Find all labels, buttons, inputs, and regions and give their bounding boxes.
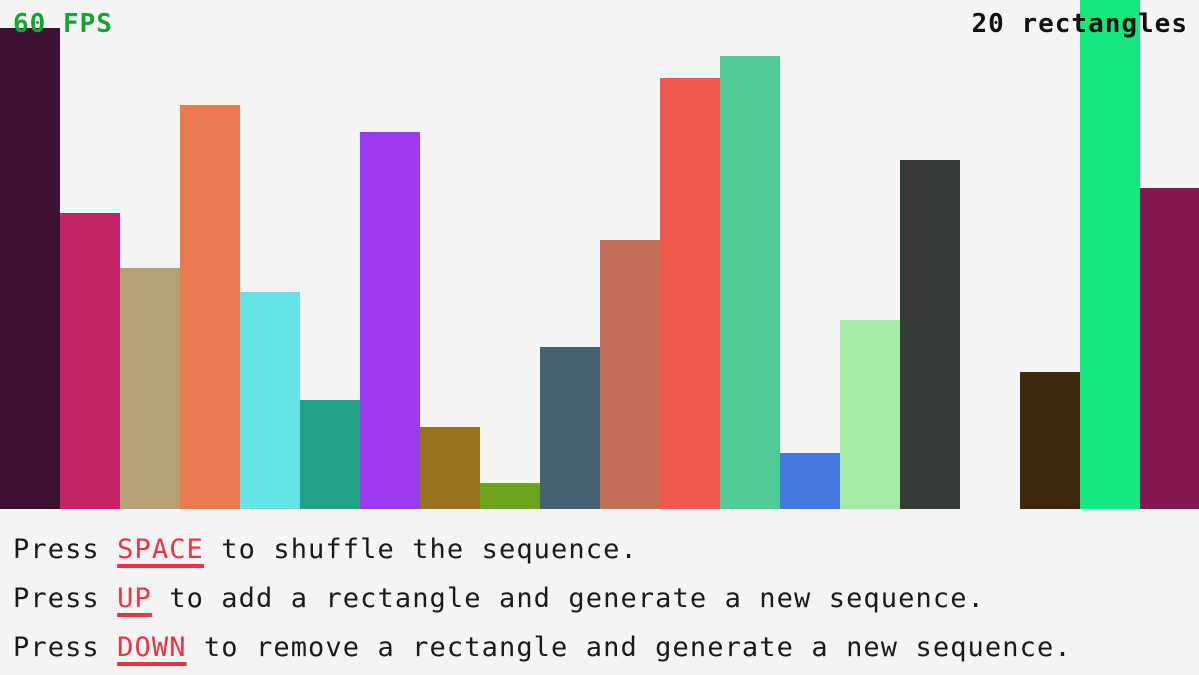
bar-rectangle — [1080, 0, 1140, 509]
rectangle-chart — [0, 0, 1199, 509]
instruction-line-remove: Press DOWN to remove a rectangle and gen… — [13, 623, 1199, 672]
bar-rectangle — [600, 240, 660, 509]
fps-counter: 60 FPS — [13, 11, 113, 37]
instruction-suffix: to add a rectangle and generate a new se… — [152, 583, 985, 614]
instruction-line-shuffle: Press SPACE to shuffle the sequence. — [13, 525, 1199, 574]
bar-rectangle — [360, 132, 420, 509]
bar-rectangle — [480, 483, 540, 509]
bar-rectangle — [120, 268, 180, 509]
bar-rectangle — [840, 320, 900, 509]
bar-rectangle — [0, 28, 60, 509]
key-space[interactable]: SPACE — [117, 534, 204, 565]
bar-rectangle — [240, 292, 300, 509]
key-down[interactable]: DOWN — [117, 632, 186, 663]
instruction-prefix: Press — [13, 583, 117, 614]
bar-rectangle — [1020, 372, 1080, 509]
instruction-prefix: Press — [13, 632, 117, 663]
bar-rectangle — [420, 427, 480, 509]
bar-rectangle — [180, 105, 240, 509]
bar-rectangle — [660, 78, 720, 509]
bar-rectangle — [540, 347, 600, 509]
app-window: 60 FPS 20 rectangles Press SPACE to shuf… — [0, 0, 1199, 675]
bar-rectangle — [1140, 188, 1199, 509]
bar-rectangle — [900, 160, 960, 509]
bar-rectangle — [720, 56, 780, 509]
bar-rectangle — [60, 213, 120, 509]
instruction-line-add: Press UP to add a rectangle and generate… — [13, 574, 1199, 623]
instruction-suffix: to shuffle the sequence. — [204, 534, 638, 565]
bar-rectangle — [780, 453, 840, 509]
key-up[interactable]: UP — [117, 583, 152, 614]
bar-rectangle — [300, 400, 360, 509]
instructions-panel: Press SPACE to shuffle the sequence. Pre… — [0, 509, 1199, 675]
rectangle-count-label: 20 rectangles — [972, 11, 1189, 37]
instruction-suffix: to remove a rectangle and generate a new… — [187, 632, 1072, 663]
instruction-prefix: Press — [13, 534, 117, 565]
